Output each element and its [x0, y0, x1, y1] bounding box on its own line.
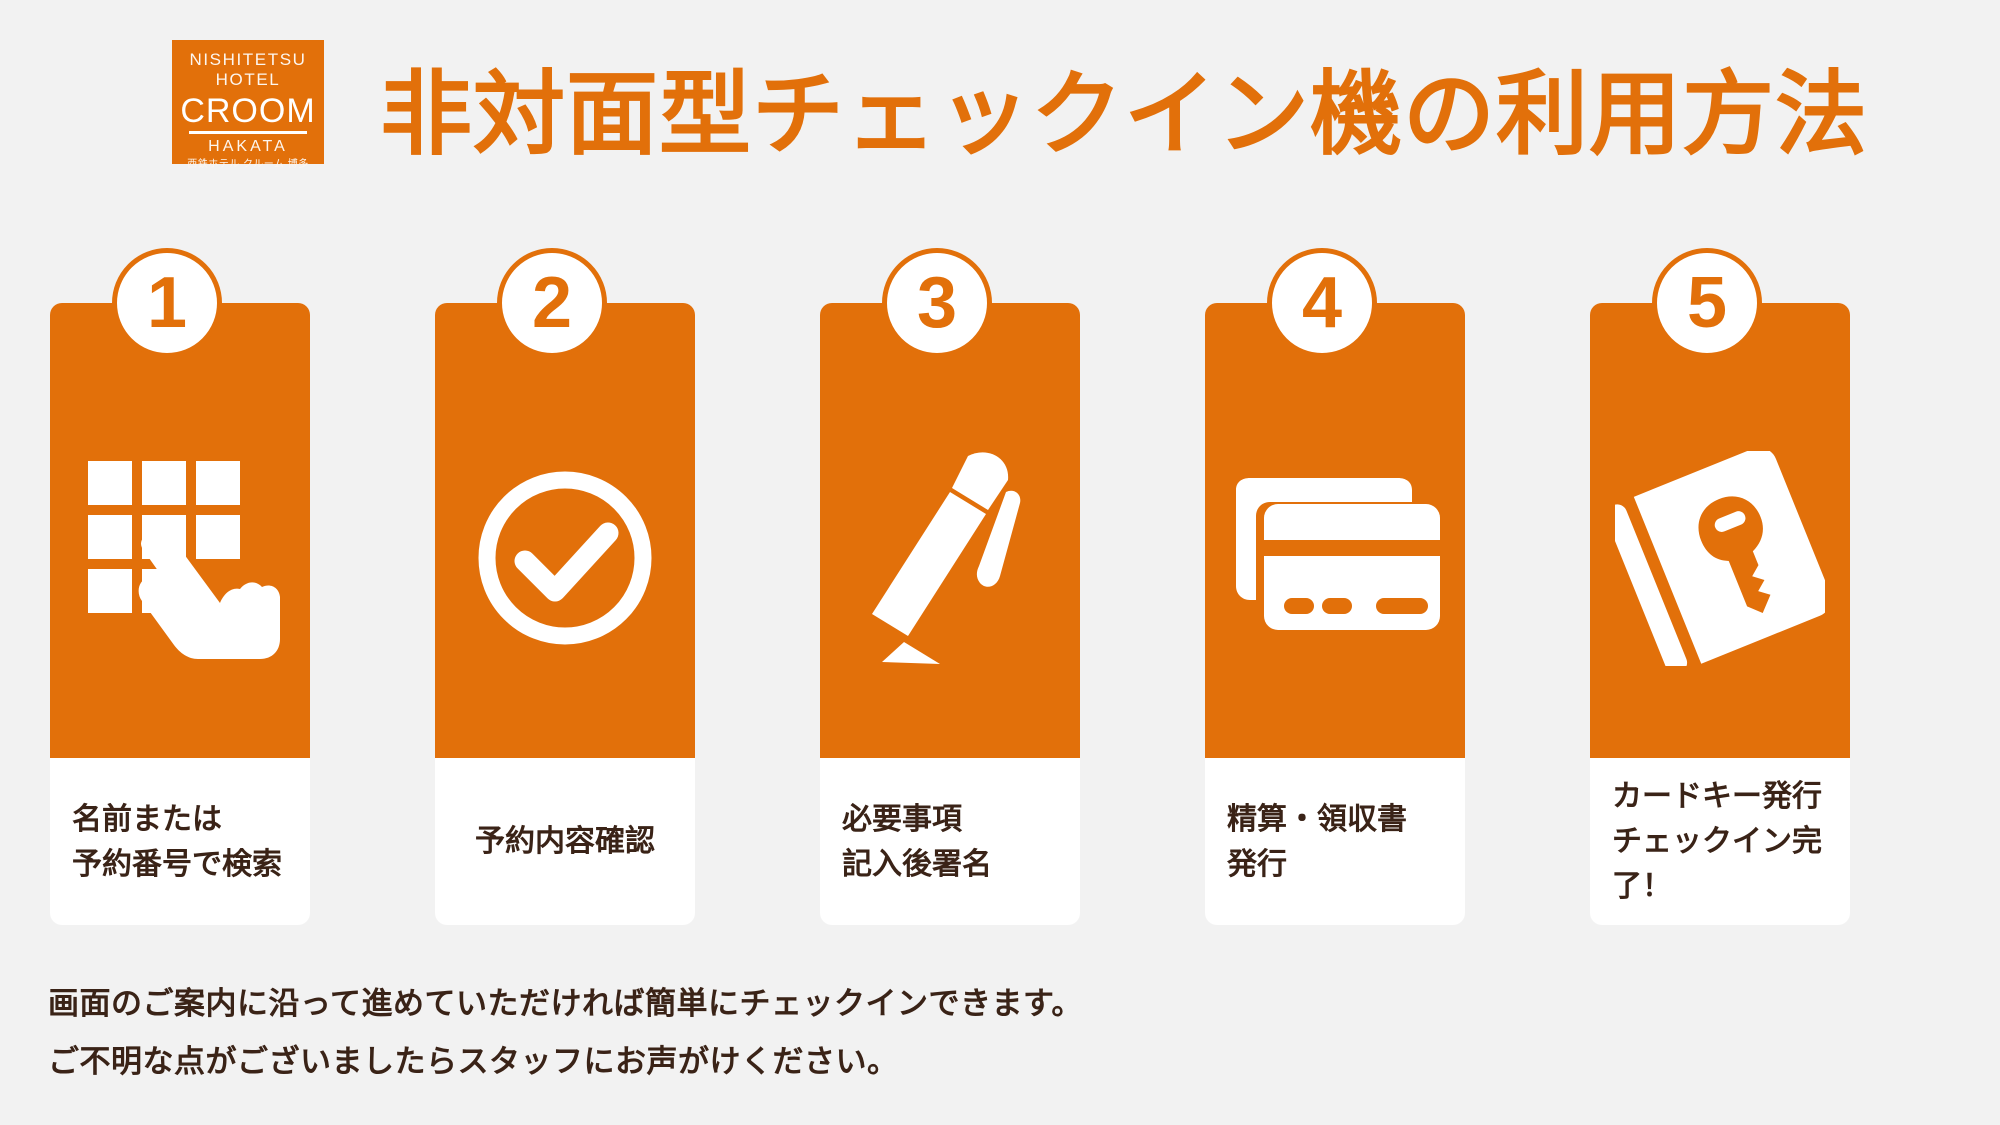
logo-line-japanese: 西鉄ホテル クルーム 博多 [172, 158, 324, 172]
step-5-label-panel: カードキー発行 チェックイン完了！ [1590, 758, 1850, 925]
step-2-number-badge: 2 [497, 248, 607, 358]
step-2-label-line-1: 予約内容確認 [475, 819, 655, 864]
step-card-2: 予約内容確認 2 [435, 303, 695, 925]
logo-line-hakata: HAKATA [172, 137, 324, 156]
step-2-label-panel: 予約内容確認 [435, 758, 695, 925]
steps-row: 名前または 予約番号で検索 1 予約内容確認 2 [50, 303, 1950, 925]
step-1-label-line-1: 名前または [72, 797, 310, 842]
step-3-icon-panel [820, 303, 1080, 758]
credit-cards-icon [1205, 398, 1465, 718]
keypad-touch-icon [50, 398, 310, 718]
logo-divider-rule [189, 131, 307, 134]
logo-brand-croom: CROOM [172, 92, 324, 130]
step-3-label-panel: 必要事項 記入後署名 [820, 758, 1080, 925]
step-card-5: カードキー発行 チェックイン完了！ 5 [1590, 303, 1850, 925]
step-5-icon-panel [1590, 303, 1850, 758]
step-card-4: 精算・領収書 発行 4 [1205, 303, 1465, 925]
step-2-icon-panel [435, 303, 695, 758]
step-5-label: カードキー発行 チェックイン完了！ [1590, 758, 1850, 925]
step-3-label: 必要事項 記入後署名 [820, 758, 1080, 925]
footer-note: 画面のご案内に沿って進めていただければ簡単にチェックインできます。 ご不明な点が… [48, 975, 1548, 1091]
step-1-label-line-2: 予約番号で検索 [72, 842, 310, 887]
key-card-icon [1590, 398, 1850, 718]
page-title: 非対面型チェックイン機の利用方法 [380, 60, 1868, 170]
step-4-icon-panel [1205, 303, 1465, 758]
step-4-number-badge: 4 [1267, 248, 1377, 358]
step-card-1: 名前または 予約番号で検索 1 [50, 303, 310, 925]
pen-icon [820, 398, 1080, 718]
step-5-number-badge: 5 [1652, 248, 1762, 358]
header: NISHITETSU HOTEL CROOM HAKATA 西鉄ホテル クルーム… [0, 0, 2000, 215]
step-4-label-line-1: 精算・領収書 [1227, 797, 1465, 842]
step-1-label-panel: 名前または 予約番号で検索 [50, 758, 310, 925]
step-4-label-panel: 精算・領収書 発行 [1205, 758, 1465, 925]
step-4-label: 精算・領収書 発行 [1205, 758, 1465, 925]
hotel-logo: NISHITETSU HOTEL CROOM HAKATA 西鉄ホテル クルーム… [172, 40, 324, 164]
step-1-number-badge: 1 [112, 248, 222, 358]
step-2-label: 予約内容確認 [435, 758, 695, 925]
step-3-label-line-2: 記入後署名 [842, 842, 1080, 887]
step-5-label-line-2: チェックイン完了！ [1612, 819, 1850, 909]
check-circle-icon [435, 398, 695, 718]
step-3-number-badge: 3 [882, 248, 992, 358]
step-3-label-line-1: 必要事項 [842, 797, 1080, 842]
step-1-label: 名前または 予約番号で検索 [50, 758, 310, 925]
logo-line-nishitetsu: NISHITETSU [172, 50, 324, 70]
step-card-3: 必要事項 記入後署名 3 [820, 303, 1080, 925]
step-1-icon-panel [50, 303, 310, 758]
footer-line-1: 画面のご案内に沿って進めていただければ簡単にチェックインできます。 [48, 975, 1548, 1033]
footer-line-2: ご不明な点がございましたらスタッフにお声がけください。 [48, 1033, 1548, 1091]
step-5-label-line-1: カードキー発行 [1612, 774, 1850, 819]
logo-line-hotel: HOTEL [172, 70, 324, 90]
step-4-label-line-2: 発行 [1227, 842, 1465, 887]
